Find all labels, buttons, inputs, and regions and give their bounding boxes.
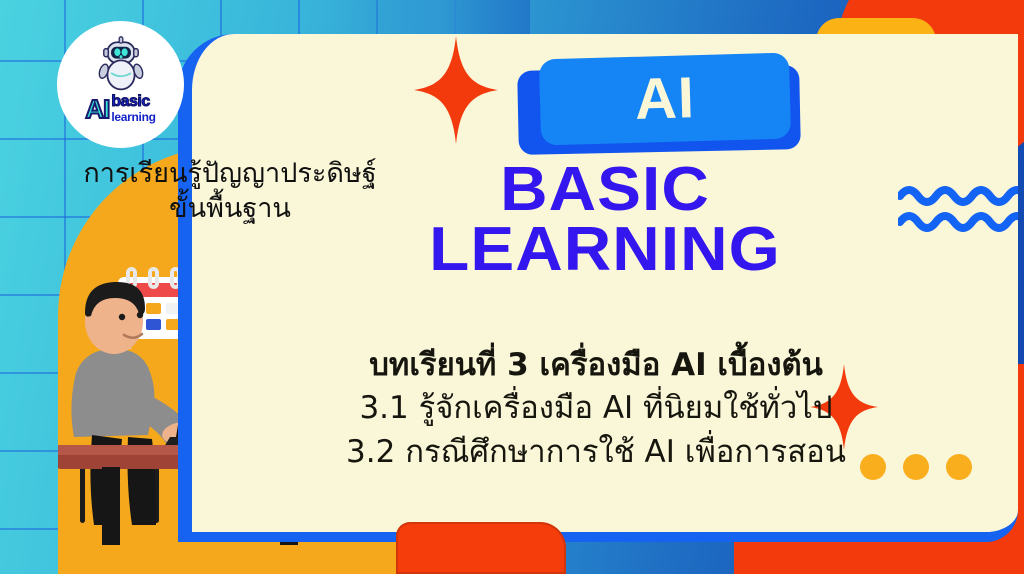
content-card: AI BASIC LEARNING บทเรียนที่ 3 เครื่องมื… [178, 34, 1018, 542]
logo-basic-learning: basic learning [111, 94, 155, 123]
logo-ai-text: AI [85, 96, 109, 122]
dot-3 [946, 454, 972, 480]
red-pill-decoration [396, 522, 566, 574]
ai-badge-label: AI [634, 69, 696, 129]
lesson-item-1: 3.1 รู้จักเครื่องมือ AI ที่นิยมใช้ทั่วไป [192, 386, 1000, 430]
page-title-line2: LEARNING [192, 220, 1018, 280]
logo-basic-text: basic [111, 94, 155, 110]
dot-2 [903, 454, 929, 480]
ai-badge: AI [518, 52, 803, 160]
dot-1 [860, 454, 886, 480]
logo-learning-text: learning [111, 111, 155, 123]
sparkle-star-icon [414, 36, 498, 144]
dots-decoration [860, 454, 972, 480]
lesson-heading: บทเรียนที่ 3 เครื่องมือ AI เบื้องต้น [192, 346, 1000, 386]
left-subtitle-line1: การเรียนรู้ปัญญาประดิษฐ์ [20, 156, 440, 191]
left-subtitle-line2: ขั้นพื้นฐาน [20, 191, 440, 226]
robot-icon [92, 35, 150, 93]
brand-logo: AI basic learning [57, 21, 184, 148]
left-subtitle: การเรียนรู้ปัญญาประดิษฐ์ ขั้นพื้นฐาน [20, 156, 440, 226]
slide-canvas: AI BASIC LEARNING บทเรียนที่ 3 เครื่องมื… [0, 0, 1024, 574]
brand-logo-wordmark: AI basic learning [85, 94, 155, 123]
content-card-inner: AI BASIC LEARNING บทเรียนที่ 3 เครื่องมื… [192, 34, 1018, 532]
ai-badge-front-layer: AI [539, 53, 791, 146]
